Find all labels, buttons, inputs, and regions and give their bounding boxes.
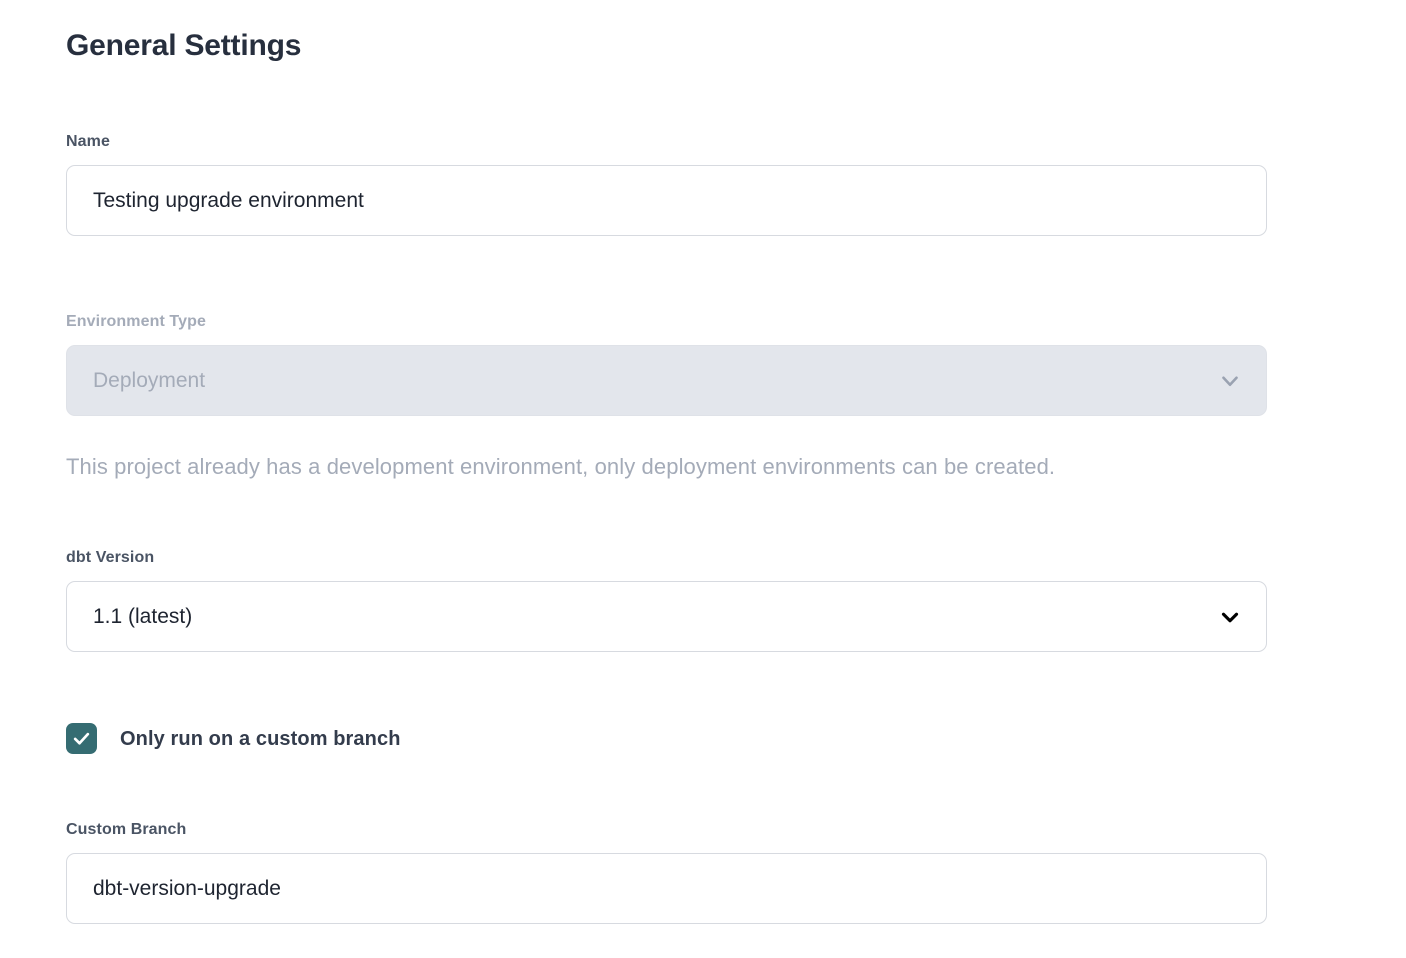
field-dbt-version: dbt Version 1.1 (latest) (66, 547, 1267, 652)
check-icon (72, 729, 91, 748)
environment-type-select-wrap: Deployment (66, 345, 1267, 416)
page-title: General Settings (66, 26, 301, 66)
dbt-version-label: dbt Version (66, 547, 1267, 569)
field-custom-branch: Custom Branch (66, 819, 1267, 924)
custom-branch-input[interactable] (66, 853, 1267, 924)
dbt-version-select[interactable]: 1.1 (latest) (66, 581, 1267, 652)
environment-type-select: Deployment (66, 345, 1267, 416)
dbt-version-select-wrap: 1.1 (latest) (66, 581, 1267, 652)
custom-branch-checkbox[interactable] (66, 723, 97, 754)
name-input[interactable] (66, 165, 1267, 236)
name-label: Name (66, 131, 1267, 153)
custom-branch-checkbox-row[interactable]: Only run on a custom branch (66, 723, 401, 754)
field-environment-type: Environment Type Deployment (66, 311, 1267, 416)
general-settings-page: General Settings Name Environment Type D… (0, 0, 1406, 958)
field-name: Name (66, 131, 1267, 236)
custom-branch-label: Custom Branch (66, 819, 1267, 841)
custom-branch-checkbox-label: Only run on a custom branch (120, 726, 401, 752)
environment-type-helper-text: This project already has a development e… (66, 452, 1055, 482)
environment-type-label: Environment Type (66, 311, 1267, 333)
